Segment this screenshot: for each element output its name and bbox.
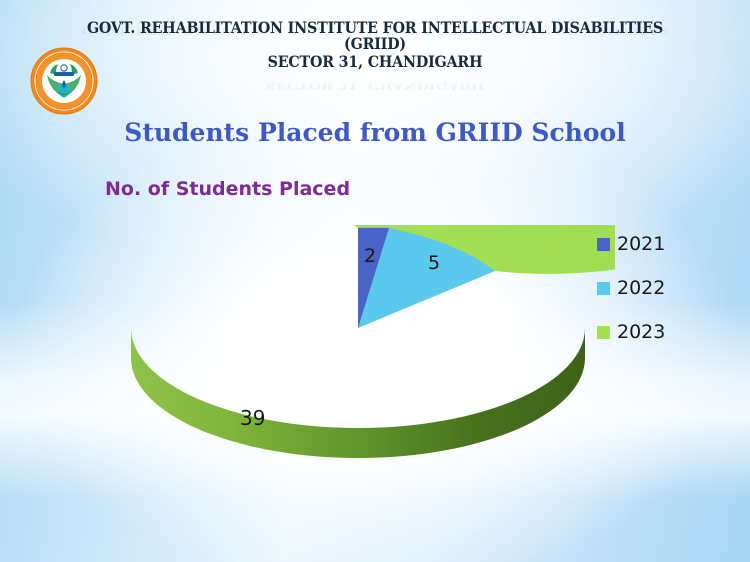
pie-value-label-2021: 2	[364, 245, 376, 267]
legend-item-2022[interactable]: 2022	[597, 266, 747, 310]
legend-swatch-icon-2021	[597, 238, 610, 251]
pie-3d-side-wall	[131, 328, 585, 458]
legend-label-2023: 2023	[617, 323, 665, 342]
header-line-2: (GRIID)	[30, 36, 720, 52]
legend-swatch-icon-2023	[597, 326, 610, 339]
legend-label-2022: 2022	[617, 279, 665, 298]
institute-header: Govt. Rehabilitation Institute for Intel…	[0, 20, 750, 70]
pie-value-label-2023: 39	[240, 406, 265, 430]
pie-chart	[95, 225, 615, 525]
legend-item-2023[interactable]: 2023	[597, 310, 747, 354]
chart-legend: 2021 2022 2023	[597, 222, 747, 354]
legend-label-2021: 2021	[617, 235, 665, 254]
page-title: Students Placed from GRIID School	[0, 118, 750, 147]
griid-emblem-logo	[30, 47, 98, 115]
slide-canvas: Govt. Rehabilitation Institute for Intel…	[0, 0, 750, 562]
chart-axis-title: No. of Students Placed	[105, 178, 350, 200]
header-line3-reflection: Sector 31, Chandigarh	[30, 80, 720, 92]
pie-value-label-2022: 5	[428, 252, 440, 274]
legend-swatch-icon-2022	[597, 282, 610, 295]
legend-item-2021[interactable]: 2021	[597, 222, 747, 266]
header-line-3: Sector 31, Chandigarh	[30, 54, 720, 70]
